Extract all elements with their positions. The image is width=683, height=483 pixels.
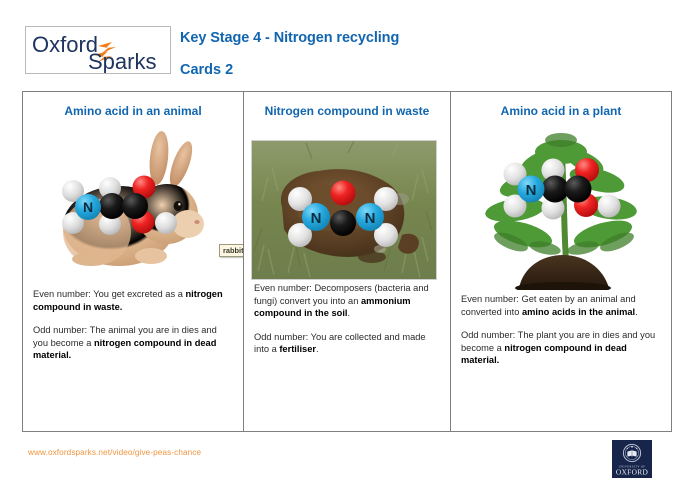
oxford-university-crest-artwork: UNIVERSITY OF OXFORD xyxy=(612,440,652,478)
card-body-text: Even number: Decomposers (bacteria and f… xyxy=(244,282,450,367)
page-subtitle: Cards 2 xyxy=(180,62,233,78)
tomato-plant-photo-artwork: N xyxy=(471,122,651,290)
card-nitrogen-compound-waste[interactable]: Nitrogen compound in waste xyxy=(244,92,451,431)
logo-word-sparks: Sparks xyxy=(88,49,156,73)
odd-number-text: Odd number: The animal you are in dies a… xyxy=(33,324,233,362)
rabbit-photo-artwork: N xyxy=(47,128,222,278)
even-number-text: Even number: Get eaten by an animal and … xyxy=(461,293,661,318)
oxford-sparks-logo-artwork: Oxford Sparks xyxy=(26,27,170,73)
tomato-plant-photo: N xyxy=(471,122,651,290)
image-filename-tooltip: rabbit.jpg xyxy=(219,244,244,257)
card-amino-acid-animal[interactable]: Amino acid in an animal xyxy=(23,92,244,431)
crest-line-2: OXFORD xyxy=(616,467,649,476)
card-amino-acid-plant[interactable]: Amino acid in a plant xyxy=(451,92,671,431)
card-title: Nitrogen compound in waste xyxy=(244,104,450,118)
card-title: Amino acid in a plant xyxy=(451,104,671,118)
dung-photo-artwork: N N xyxy=(252,141,436,279)
even-number-text: Even number: You get excreted as a nitro… xyxy=(33,288,233,313)
dung-photo: N N xyxy=(251,140,437,280)
odd-number-text: Odd number: You are collected and made i… xyxy=(254,331,440,356)
nitrogen-label: N xyxy=(526,182,537,199)
page-header: Oxford Sparks Key Stage 4 - Nitrogen rec… xyxy=(0,0,683,90)
nitrogen-label: N xyxy=(365,210,376,227)
cards-table: Amino acid in an animal xyxy=(22,91,672,432)
card-body-text: Even number: Get eaten by an animal and … xyxy=(451,293,671,378)
card-title: Amino acid in an animal xyxy=(23,104,243,118)
rabbit-photo: N xyxy=(47,128,222,278)
even-number-text: Even number: Decomposers (bacteria and f… xyxy=(254,282,440,320)
nitrogen-label: N xyxy=(83,199,93,215)
page-title: Key Stage 4 - Nitrogen recycling xyxy=(180,30,399,46)
footer-url-link[interactable]: www.oxfordsparks.net/video/give-peas-cha… xyxy=(28,448,201,457)
odd-number-text: Odd number: The plant you are in dies an… xyxy=(461,329,661,367)
card-body-text: Even number: You get excreted as a nitro… xyxy=(23,288,243,373)
oxford-sparks-logo[interactable]: Oxford Sparks xyxy=(25,26,171,74)
oxford-university-crest: UNIVERSITY OF OXFORD xyxy=(612,440,652,478)
nitrogen-label: N xyxy=(311,210,322,227)
